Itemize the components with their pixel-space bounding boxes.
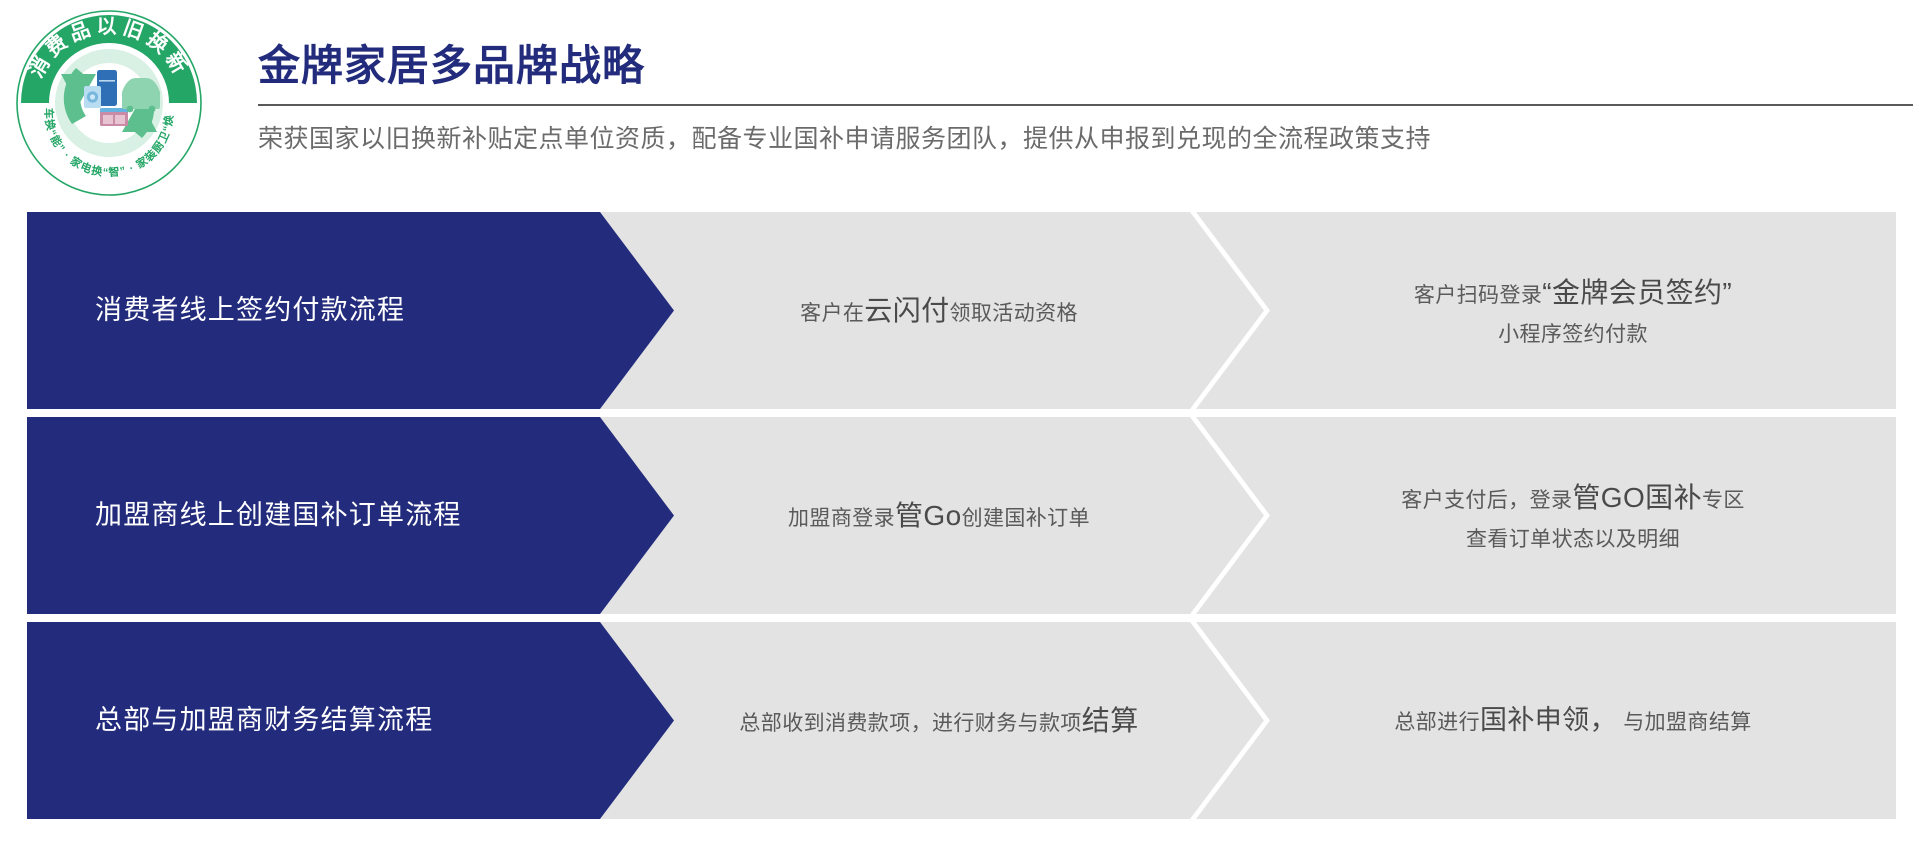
process-flow: 消费者线上签约付款流程 客户在云闪付领取活动资格 客户扫码登录“金牌会员签约”小… — [0, 212, 1920, 819]
process-step-text: 总部进行国补申领， 与加盟商结算 — [1394, 697, 1751, 744]
process-row-label-chevron[interactable]: 消费者线上签约付款流程 — [27, 212, 727, 409]
process-row: 加盟商线上创建国补订单流程 加盟商登录管Go创建国补订单 客户支付后，登录管GO… — [0, 417, 1920, 614]
process-row-label: 总部与加盟商财务结算流程 — [95, 702, 433, 738]
trade-in-badge-icon: 消费品以旧换新 汽车换“能” · 家电换“智” · 家装厨卫“焕新” — [14, 8, 204, 198]
process-row-label-chevron[interactable]: 总部与加盟商财务结算流程 — [27, 622, 727, 819]
process-step-chevron[interactable]: 客户在云闪付领取活动资格 — [600, 212, 1264, 409]
process-step-chevron[interactable]: 总部进行国补申领， 与加盟商结算 — [1196, 622, 1896, 819]
process-step-text: 客户支付后，登录管GO国补专区查看订单状态以及明细 — [1401, 473, 1745, 559]
process-row-label-chevron[interactable]: 加盟商线上创建国补订单流程 — [27, 417, 727, 614]
process-step-chevron[interactable]: 客户扫码登录“金牌会员签约”小程序签约付款 — [1196, 212, 1896, 409]
process-step-chevron[interactable]: 加盟商登录管Go创建国补订单 — [600, 417, 1264, 614]
process-step-chevron[interactable]: 总部收到消费款项，进行财务与款项结算 — [600, 622, 1264, 819]
process-step-text: 总部收到消费款项，进行财务与款项结算 — [739, 696, 1138, 745]
process-step-text: 客户扫码登录“金牌会员签约”小程序签约付款 — [1414, 268, 1732, 354]
title-divider — [258, 104, 1913, 106]
title-block: 金牌家居多品牌战略 荣获国家以旧换新补贴定点单位资质，配备专业国补申请服务团队，… — [258, 42, 1898, 156]
process-row: 消费者线上签约付款流程 客户在云闪付领取活动资格 客户扫码登录“金牌会员签约”小… — [0, 212, 1920, 409]
process-step-text: 加盟商登录管Go创建国补订单 — [788, 491, 1090, 540]
process-row: 总部与加盟商财务结算流程 总部收到消费款项，进行财务与款项结算 总部进行国补申领… — [0, 622, 1920, 819]
trade-in-program-logo: 消费品以旧换新 汽车换“能” · 家电换“智” · 家装厨卫“焕新” — [14, 8, 204, 198]
header: 消费品以旧换新 汽车换“能” · 家电换“智” · 家装厨卫“焕新” 金牌家居多… — [0, 0, 1920, 210]
process-step-chevron[interactable]: 客户支付后，登录管GO国补专区查看订单状态以及明细 — [1196, 417, 1896, 614]
slide-root: 消费品以旧换新 汽车换“能” · 家电换“智” · 家装厨卫“焕新” 金牌家居多… — [0, 0, 1920, 865]
process-row-label: 加盟商线上创建国补订单流程 — [95, 497, 462, 533]
process-step-text: 客户在云闪付领取活动资格 — [800, 286, 1078, 335]
page-title: 金牌家居多品牌战略 — [258, 42, 1898, 90]
process-row-label: 消费者线上签约付款流程 — [95, 292, 405, 328]
page-subtitle: 荣获国家以旧换新补贴定点单位资质，配备专业国补申请服务团队，提供从申报到兑现的全… — [258, 123, 1898, 156]
